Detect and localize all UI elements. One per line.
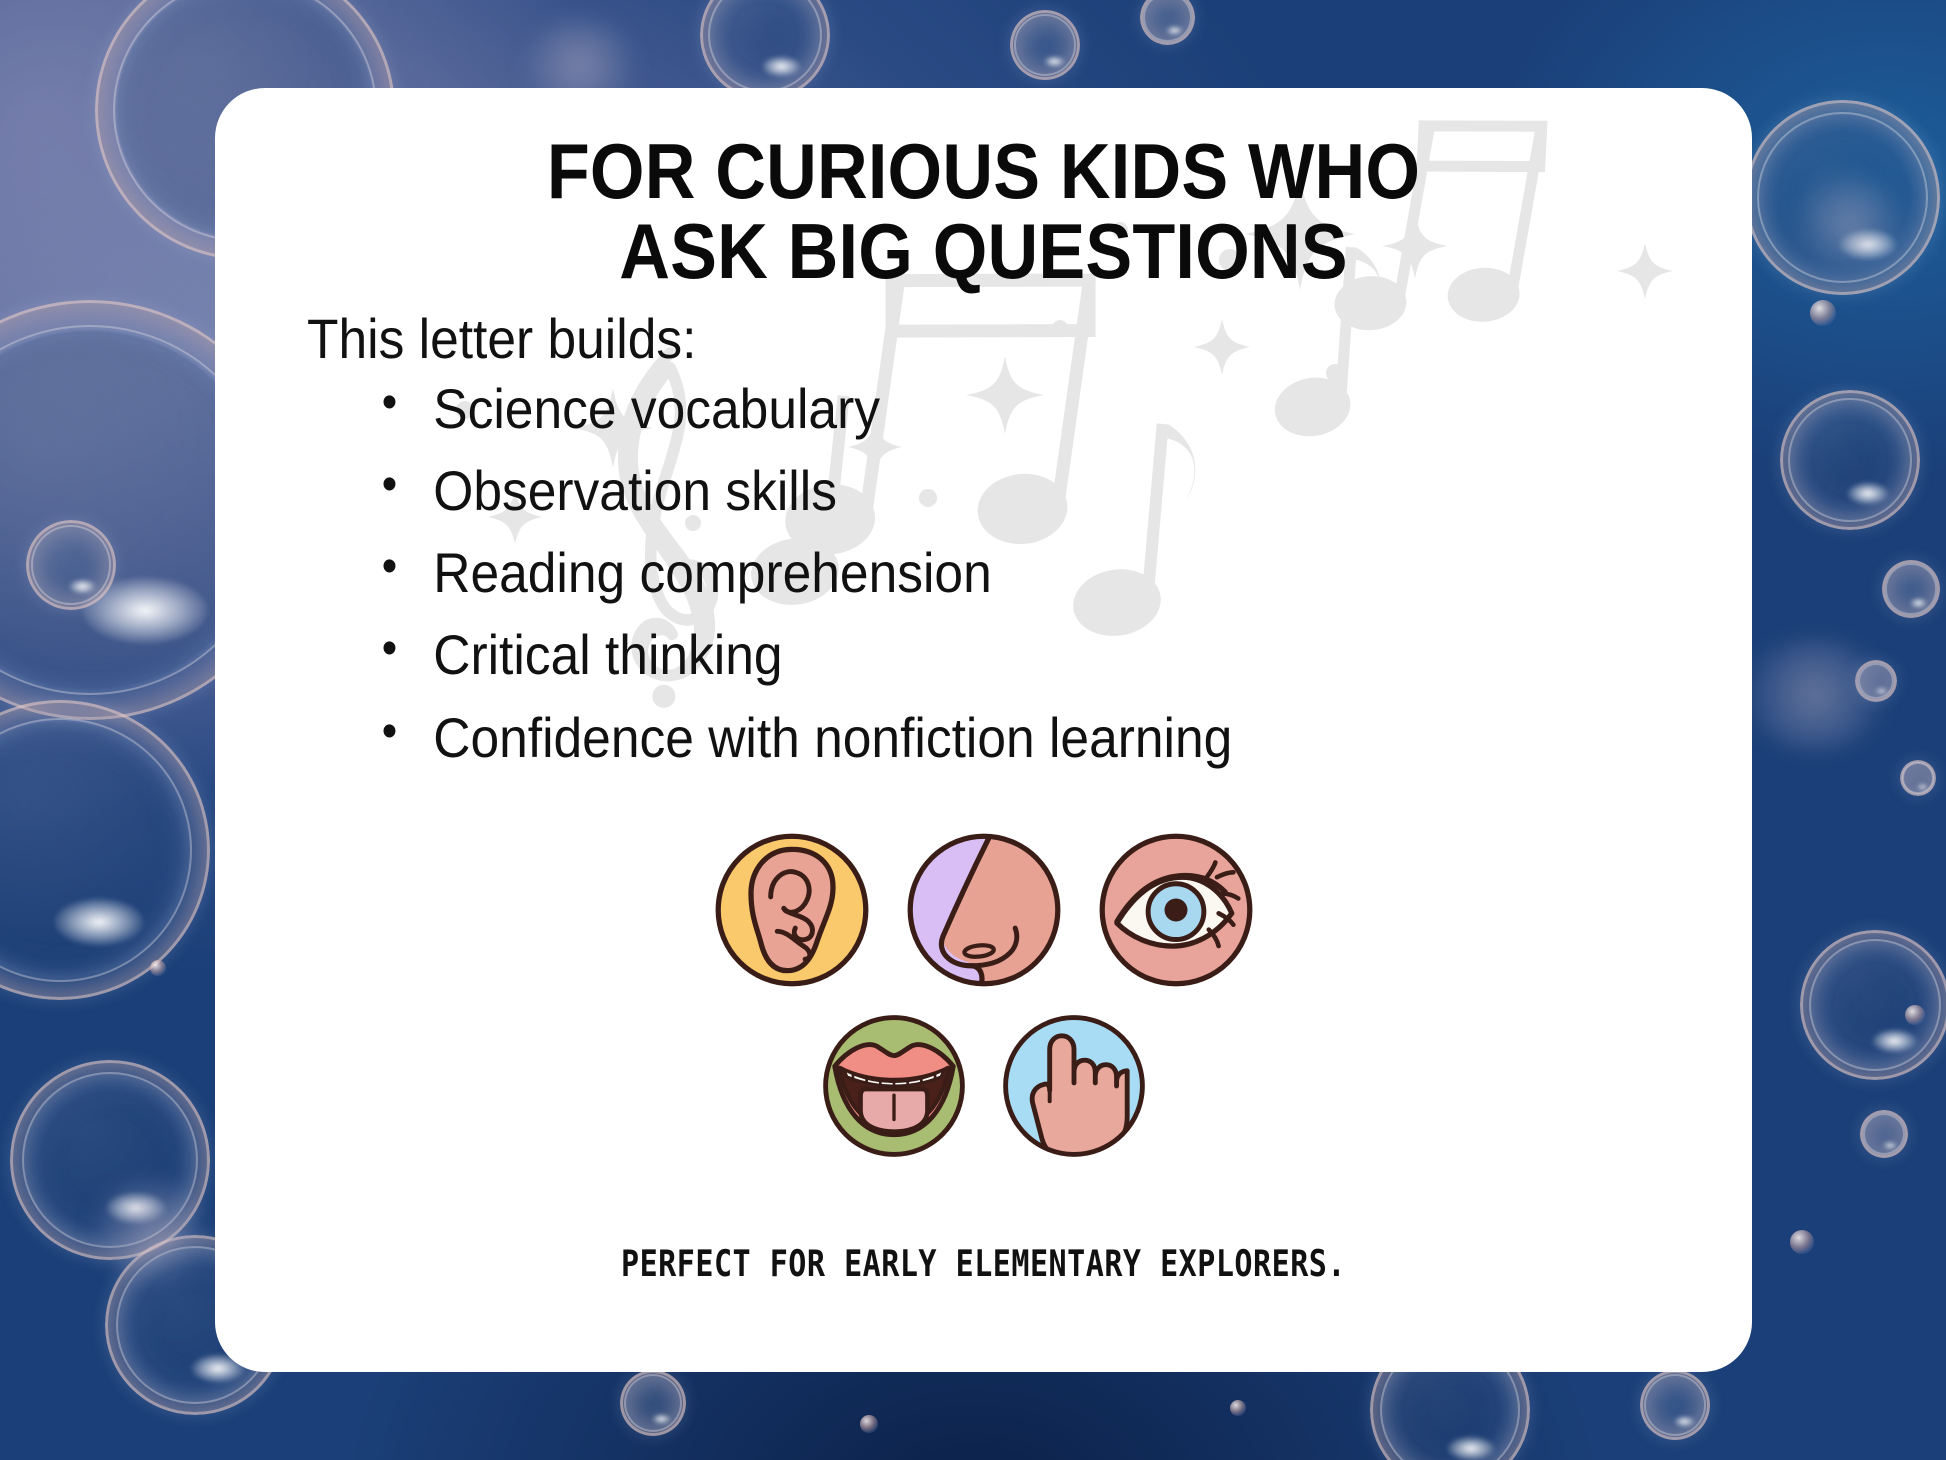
- list-item: Confidence with nonfiction learning: [367, 707, 1232, 769]
- bubble-medium: [1780, 390, 1920, 530]
- bubble-small: [1900, 760, 1936, 796]
- title-line-2: ASK BIG QUESTIONS: [292, 212, 1675, 292]
- bubble-blur: [90, 1180, 210, 1280]
- bubble-small: [1882, 560, 1940, 618]
- bubble-small: [1640, 1370, 1710, 1440]
- bubble-speck: [1905, 1005, 1925, 1025]
- list-item: Reading comprehension: [367, 542, 1232, 604]
- bubble-speck: [1810, 300, 1836, 326]
- nose-icon: [902, 828, 1066, 992]
- title-line-1: FOR CURIOUS KIDS WHO: [292, 132, 1675, 212]
- bubble-speck: [860, 1415, 878, 1433]
- senses-row-top: [710, 828, 1258, 992]
- sparkle-dot-icon: [1052, 320, 1068, 336]
- eye-icon: [1094, 828, 1258, 992]
- bubble-speck: [150, 960, 166, 976]
- bubble-small: [1860, 1110, 1908, 1158]
- ear-icon: [710, 828, 874, 992]
- bubble-speck: [1230, 1400, 1246, 1416]
- list-item: Science vocabulary: [367, 378, 1232, 440]
- bubble-medium: [1800, 930, 1946, 1080]
- page-title: FOR CURIOUS KIDS WHO ASK BIG QUESTIONS: [292, 132, 1675, 291]
- list-item: Critical thinking: [367, 624, 1232, 686]
- footer-caption: PERFECT FOR EARLY ELEMENTARY EXPLORERS.: [238, 1243, 1729, 1285]
- bubble-small: [26, 520, 116, 610]
- bubble-blur: [1790, 180, 1910, 270]
- mouth-tongue-icon: [818, 1010, 970, 1162]
- bubble-speck: [1790, 1230, 1814, 1254]
- list-item: Observation skills: [367, 460, 1232, 522]
- benefits-list: Science vocabulary Observation skills Re…: [367, 378, 1308, 789]
- intro-text: This letter builds:: [307, 306, 696, 371]
- hand-touch-icon: [998, 1010, 1150, 1162]
- sparkle-icon: [1194, 319, 1250, 375]
- bubble-small: [1010, 10, 1080, 80]
- sparkle-dot-icon: [1326, 364, 1344, 382]
- content-card: FOR CURIOUS KIDS WHO ASK BIG QUESTIONS T…: [215, 88, 1752, 1372]
- bubble-blur: [1740, 640, 1890, 750]
- senses-row-bottom: [818, 1010, 1150, 1162]
- five-senses-icons: [215, 828, 1752, 1162]
- bubble-small: [620, 1370, 686, 1436]
